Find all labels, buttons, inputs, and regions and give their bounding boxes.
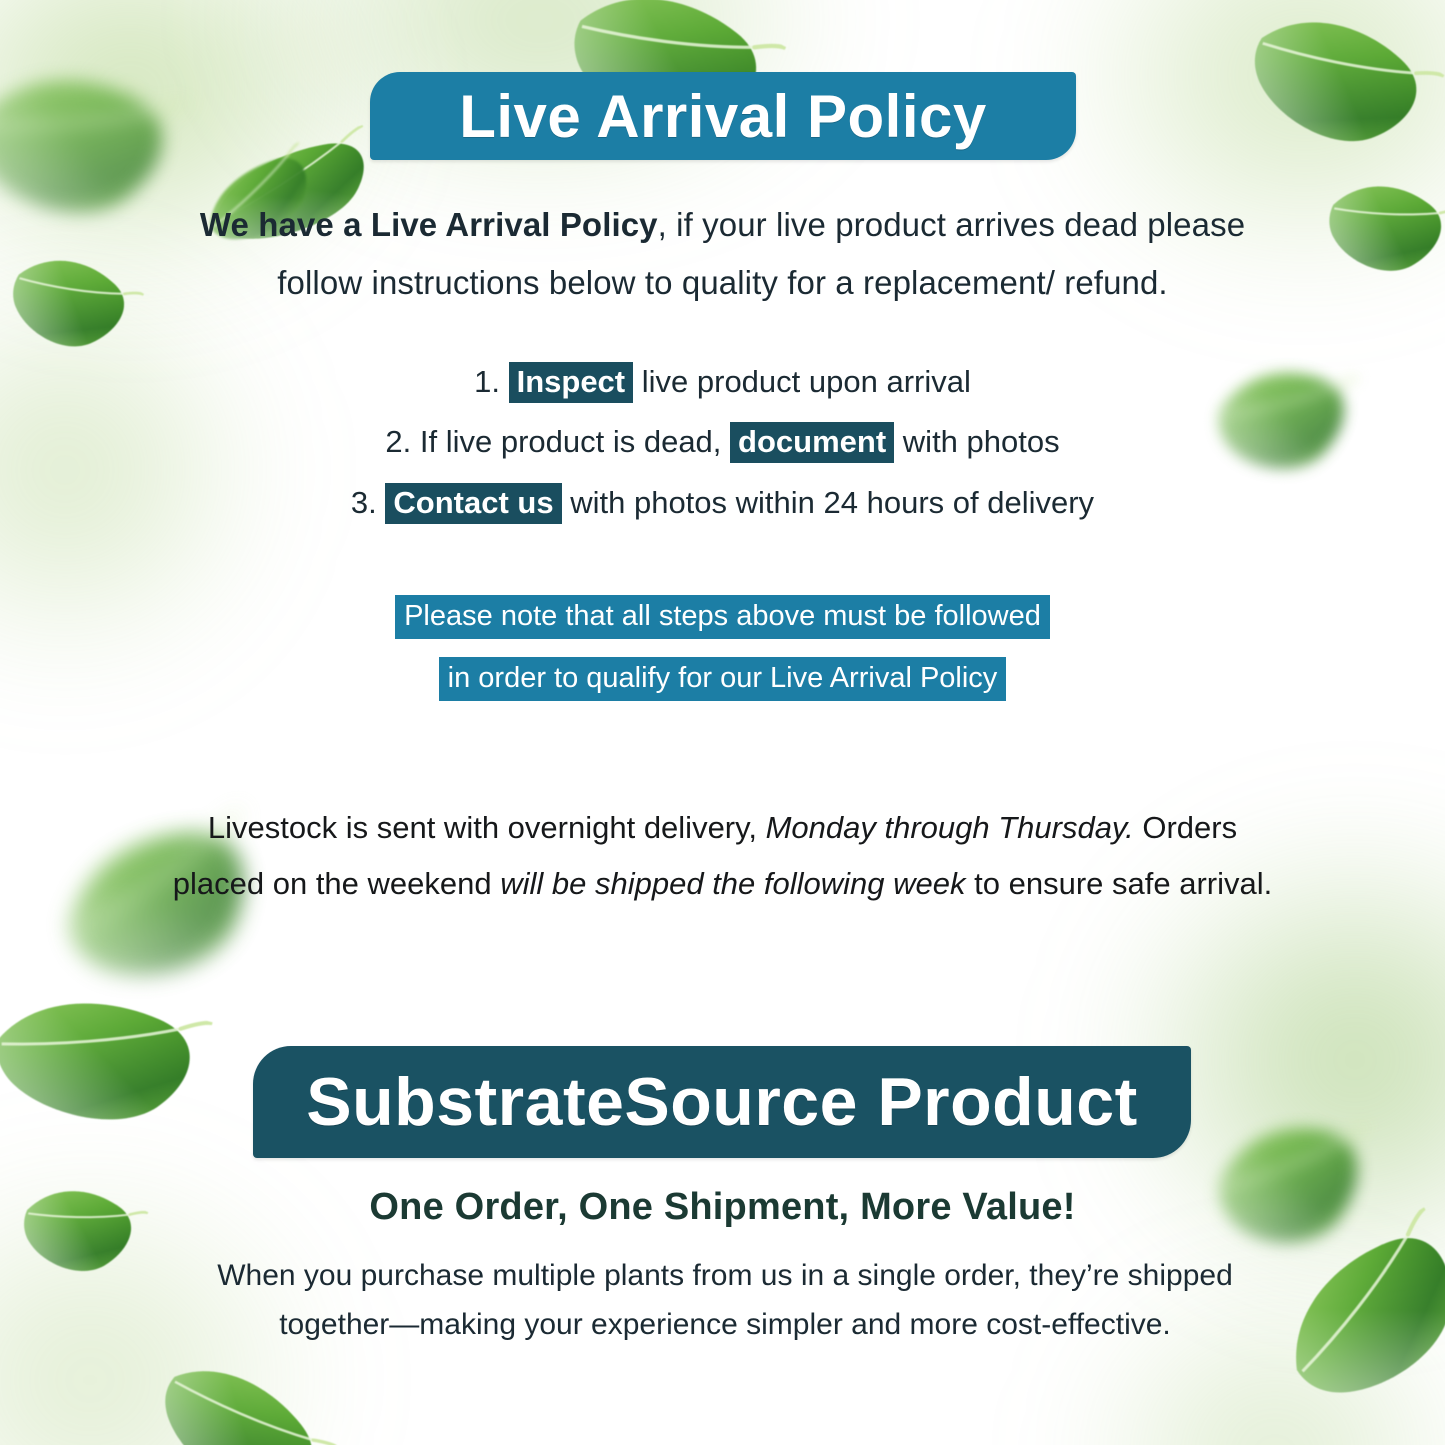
step-number: 3. <box>351 485 377 520</box>
step-highlight: document <box>730 422 894 463</box>
list-item: 2. If live product is dead, document wit… <box>170 412 1275 472</box>
step-text-after: with photos within 24 hours of delivery <box>570 485 1094 520</box>
product-subheading: One Order, One Shipment, More Value! <box>170 1186 1275 1229</box>
policy-note-line-2: in order to qualify for our Live Arrival… <box>170 647 1275 709</box>
step-text-before: If live product is dead, <box>420 424 722 459</box>
shipping-text-1: Livestock is sent with overnight deliver… <box>208 810 766 845</box>
shipping-italic-2: will be shipped the following week <box>500 866 965 901</box>
step-text-after: live product upon arrival <box>642 364 971 399</box>
substratesource-product-title: SubstrateSource Product <box>306 1063 1137 1141</box>
policy-intro-bold: We have a Live Arrival Policy <box>200 206 658 243</box>
policy-note-callout: Please note that all steps above must be… <box>170 585 1275 710</box>
step-text-after: with photos <box>903 424 1060 459</box>
list-item: 1. Inspect live product upon arrival <box>170 352 1275 412</box>
live-arrival-policy-banner: Live Arrival Policy <box>370 72 1076 160</box>
step-highlight: Inspect <box>509 362 634 403</box>
shipping-schedule-paragraph: Livestock is sent with overnight deliver… <box>170 800 1275 913</box>
policy-note-line-1: Please note that all steps above must be… <box>170 585 1275 647</box>
live-arrival-policy-title: Live Arrival Policy <box>459 82 987 151</box>
poster-canvas: Live Arrival Policy We have a Live Arriv… <box>0 0 1445 1445</box>
policy-intro-paragraph: We have a Live Arrival Policy, if your l… <box>170 196 1275 312</box>
substratesource-product-banner: SubstrateSource Product <box>253 1046 1191 1158</box>
step-number: 2. <box>385 424 411 459</box>
shipping-italic-1: Monday through Thursday. <box>766 810 1134 845</box>
step-highlight: Contact us <box>385 483 561 524</box>
shipping-text-3: to ensure safe arrival. <box>966 866 1273 901</box>
policy-steps-list: 1. Inspect live product upon arrival 2. … <box>170 352 1275 533</box>
list-item: 3. Contact us with photos within 24 hour… <box>170 473 1275 533</box>
product-body-paragraph: When you purchase multiple plants from u… <box>170 1252 1280 1349</box>
step-number: 1. <box>474 364 500 399</box>
